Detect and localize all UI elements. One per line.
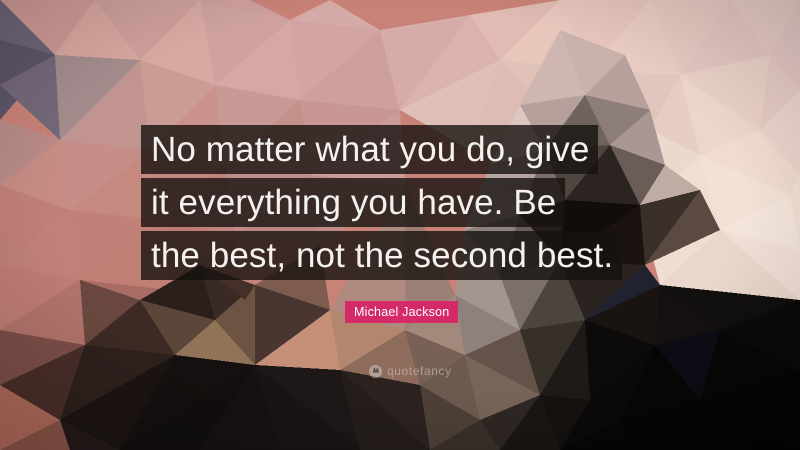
quote-mark-icon: ❝	[369, 365, 382, 378]
watermark: ❝ quotefancy	[369, 364, 452, 378]
author-badge: Michael Jackson	[345, 301, 458, 323]
watermark-brand: quotefancy	[387, 364, 452, 378]
quote-block: No matter what you do, give it everythin…	[141, 125, 681, 280]
quote-line-1: No matter what you do, give	[141, 125, 598, 174]
quote-poster: No matter what you do, give it everythin…	[0, 0, 800, 450]
quote-line-2: it everything you have. Be	[141, 178, 565, 227]
quote-line-3: the best, not the second best.	[141, 231, 622, 280]
quote-mark-glyph: ❝	[372, 366, 379, 379]
